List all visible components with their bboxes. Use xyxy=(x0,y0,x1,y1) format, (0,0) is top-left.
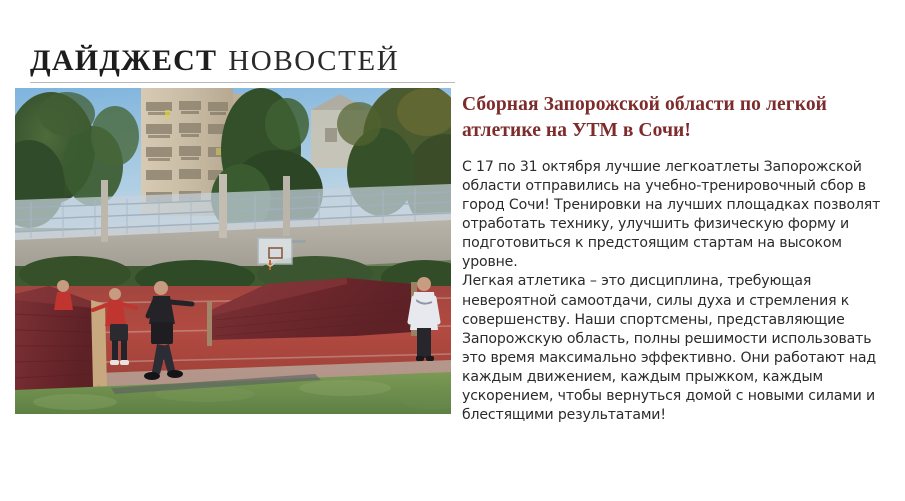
page-title: ДАЙДЖЕСТ НОВОСТЕЙ xyxy=(30,36,460,76)
page-title-bold-word: ДАЙДЖЕСТ xyxy=(30,46,217,76)
photo-scene xyxy=(15,88,451,414)
article-paragraph-1: С 17 по 31 октября лучшие легкоатлеты За… xyxy=(462,158,896,273)
page-title-light-word: НОВОСТЕЙ xyxy=(228,47,399,76)
article-column: Сборная Запорожской области по легкой ат… xyxy=(462,92,896,425)
article-paragraph-2: Легкая атлетика – это дисциплина, требую… xyxy=(462,272,896,425)
article-headline: Сборная Запорожской области по легкой ат… xyxy=(462,92,896,144)
news-digest-page: { "masthead": { "word_bold": "ДАЙДЖЕСТ",… xyxy=(0,0,905,501)
header-divider xyxy=(30,82,455,83)
article-body: С 17 по 31 октября лучшие легкоатлеты За… xyxy=(462,158,896,425)
article-photo xyxy=(15,88,451,414)
